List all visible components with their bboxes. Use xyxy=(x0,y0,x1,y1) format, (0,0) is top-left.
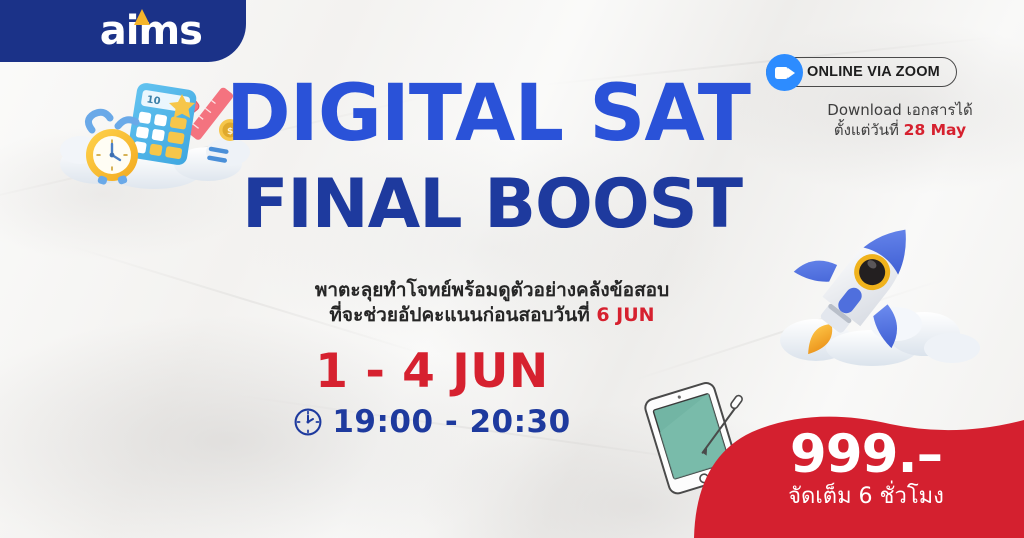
aims-logo-tab: aims xyxy=(0,0,246,62)
description-line2: ที่จะช่วยอัปคะแนนก่อนสอบวันที่ 6 JUN xyxy=(0,303,984,328)
description-line2-prefix: ที่จะช่วยอัปคะแนนก่อนสอบวันที่ xyxy=(329,304,596,326)
price-blob: 999.– จัดเต็ม 6 ชั่วโมง xyxy=(694,402,1024,538)
promo-banner: 10 xyxy=(0,0,1024,538)
course-time: 19:00 - 20:30 xyxy=(332,404,570,440)
aims-logo-wordmark: aims xyxy=(100,11,202,51)
aims-logo-text: aims xyxy=(100,8,202,54)
price-caption: จัดเต็ม 6 ชั่วโมง xyxy=(694,486,1024,508)
headline-primary: DIGITAL SAT xyxy=(0,77,1024,152)
description-line1: พาตะลุยทำโจทย์พร้อมดูตัวอย่างคลังข้อสอบ xyxy=(0,278,984,303)
description-block: พาตะลุยทำโจทย์พร้อมดูตัวอย่างคลังข้อสอบ … xyxy=(0,278,1024,328)
exam-date-highlight: 6 JUN xyxy=(596,304,654,326)
course-dates: 1 - 4 JUN xyxy=(0,348,1024,395)
headline-secondary: FINAL BOOST xyxy=(0,172,1024,237)
pencil-tip-icon xyxy=(134,9,150,25)
price-amount: 999.– xyxy=(694,428,1024,481)
clock-icon xyxy=(293,407,323,437)
